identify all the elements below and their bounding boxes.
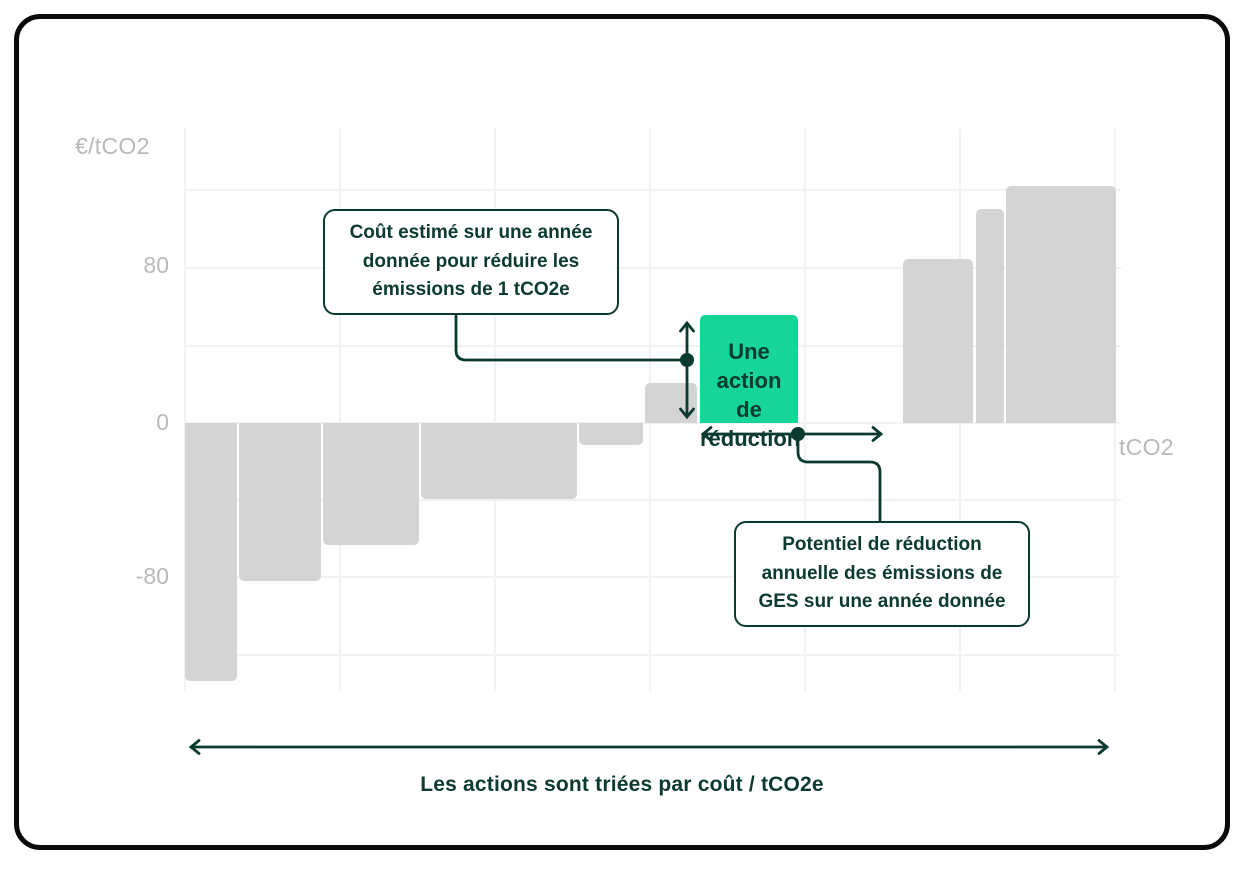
bar-action-4[interactable] — [421, 423, 577, 499]
potential-callout-box[interactable]: Potentiel de réduction annuelle des émis… — [734, 521, 1030, 627]
bar-action-1[interactable] — [185, 423, 237, 681]
bar-action-3[interactable] — [323, 423, 419, 545]
bar-highlight-label-line1: Une action — [717, 339, 782, 393]
y-tick-80: 80 — [49, 252, 169, 279]
macc-chart: €/tCO2 tCO2 80 0 -80 Une action de réduc… — [19, 19, 1225, 845]
cost-callout-box[interactable]: Coût estimé sur une année donnée pour ré… — [323, 209, 619, 315]
sort-caption: Les actions sont triées par coût / tCO2e — [19, 773, 1225, 797]
screenshot-root: €/tCO2 tCO2 80 0 -80 Une action de réduc… — [0, 0, 1244, 872]
bar-action-10[interactable] — [1006, 186, 1116, 423]
bar-action-8[interactable] — [903, 259, 973, 423]
cost-callout-text: Coût estimé sur une année donnée pour ré… — [350, 219, 593, 305]
potential-callout-line2: annuelle des émissions de — [762, 563, 1003, 584]
chart-card: €/tCO2 tCO2 80 0 -80 Une action de réduc… — [14, 14, 1230, 850]
bar-action-9[interactable] — [976, 209, 1004, 423]
y-axis-label: €/tCO2 — [75, 133, 150, 160]
bar-action-5[interactable] — [579, 423, 643, 445]
x-axis-label: tCO2 — [1119, 434, 1174, 461]
bar-action-6[interactable] — [645, 383, 697, 423]
potential-callout-text: Potentiel de réduction annuelle des émis… — [758, 531, 1005, 617]
cost-callout-line2: donnée pour réduire les — [363, 251, 579, 272]
potential-callout-line1: Potentiel de réduction — [782, 534, 982, 555]
cost-callout-line3: émissions de 1 tCO2e — [372, 279, 569, 300]
y-tick-0: 0 — [49, 409, 169, 436]
cost-callout-line1: Coût estimé sur une année — [350, 222, 593, 243]
bar-highlighted-action[interactable]: Une action de réduction — [700, 315, 798, 423]
bar-action-2[interactable] — [239, 423, 321, 581]
y-tick-neg80: -80 — [49, 563, 169, 590]
potential-callout-line3: GES sur une année donnée — [758, 591, 1005, 612]
